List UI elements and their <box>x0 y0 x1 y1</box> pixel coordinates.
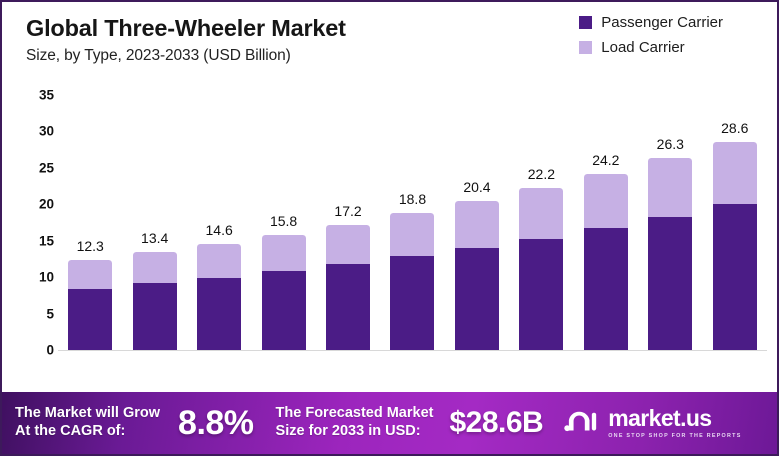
bar-group[interactable]: 14.6 <box>187 84 251 387</box>
bar-stack[interactable] <box>133 252 177 350</box>
bar-value-label: 28.6 <box>703 120 767 136</box>
y-axis-tick: 25 <box>8 160 54 175</box>
bar-segment-passenger-carrier[interactable] <box>326 264 370 350</box>
forecast-caption-line1: The Forecasted Market <box>276 405 434 423</box>
chart-card: Global Three-Wheeler Market Size, by Typ… <box>0 0 779 456</box>
bar-stack[interactable] <box>648 158 692 350</box>
bar-stack[interactable] <box>197 244 241 350</box>
logo-tagline: ONE STOP SHOP FOR THE REPORTS <box>608 433 741 439</box>
bar-segment-passenger-carrier[interactable] <box>390 256 434 350</box>
y-axis-tick: 10 <box>8 270 54 285</box>
bar-segment-load-carrier[interactable] <box>262 235 306 271</box>
bar-group[interactable]: 15.8 <box>251 84 315 387</box>
y-axis-tick: 5 <box>8 306 54 321</box>
bar-group[interactable]: 18.8 <box>380 84 444 387</box>
bar-segment-passenger-carrier[interactable] <box>262 271 306 350</box>
legend-label-passenger-carrier: Passenger Carrier <box>601 14 723 31</box>
bar-value-label: 14.6 <box>187 222 251 238</box>
logo-wordmark: market.us <box>608 407 741 430</box>
bar-segment-load-carrier[interactable] <box>390 213 434 256</box>
bar-value-label: 15.8 <box>251 213 315 229</box>
bar-stack[interactable] <box>326 225 370 350</box>
market-us-logo-text: market.us ONE STOP SHOP FOR THE REPORTS <box>608 407 741 439</box>
bar-segment-passenger-carrier[interactable] <box>197 278 241 350</box>
summary-banner: The Market will Grow At the CAGR of: 8.8… <box>2 392 779 454</box>
bar-value-label: 12.3 <box>58 238 122 254</box>
bar-series-container: 12.313.414.615.817.218.820.422.224.226.3… <box>58 84 767 387</box>
cagr-caption: The Market will Grow At the CAGR of: <box>15 405 160 440</box>
chart-header: Global Three-Wheeler Market Size, by Typ… <box>2 2 779 84</box>
bar-segment-load-carrier[interactable] <box>133 252 177 283</box>
bar-segment-load-carrier[interactable] <box>68 260 112 288</box>
legend-swatch-passenger-carrier <box>579 16 592 29</box>
bar-value-label: 18.8 <box>380 191 444 207</box>
y-axis-tick: 0 <box>8 343 54 358</box>
bar-group[interactable]: 13.4 <box>122 84 186 387</box>
legend-item-load-carrier[interactable]: Load Carrier <box>579 39 723 56</box>
y-axis-tick: 30 <box>8 124 54 139</box>
bar-stack[interactable] <box>713 142 757 350</box>
bar-stack[interactable] <box>584 174 628 350</box>
bar-stack[interactable] <box>390 213 434 350</box>
bar-value-label: 26.3 <box>638 136 702 152</box>
bar-segment-passenger-carrier[interactable] <box>133 283 177 350</box>
chart-subtitle: Size, by Type, 2023-2033 (USD Billion) <box>26 47 291 65</box>
cagr-value: 8.8% <box>178 404 254 443</box>
y-axis-tick: 20 <box>8 197 54 212</box>
y-axis: 05101520253035 <box>2 84 54 387</box>
y-axis-tick: 15 <box>8 233 54 248</box>
bar-group[interactable]: 28.6 <box>703 84 767 387</box>
bar-group[interactable]: 17.2 <box>316 84 380 387</box>
bar-segment-load-carrier[interactable] <box>519 188 563 238</box>
bar-segment-passenger-carrier[interactable] <box>713 204 757 350</box>
bar-segment-load-carrier[interactable] <box>584 174 628 228</box>
chart-title: Global Three-Wheeler Market <box>26 15 346 42</box>
market-us-logo-icon <box>563 408 601 438</box>
y-axis-tick: 35 <box>8 88 54 103</box>
bar-segment-load-carrier[interactable] <box>648 158 692 216</box>
bar-segment-load-carrier[interactable] <box>326 225 370 264</box>
bar-value-label: 13.4 <box>122 230 186 246</box>
bar-segment-passenger-carrier[interactable] <box>68 289 112 350</box>
bar-group[interactable]: 24.2 <box>574 84 638 387</box>
bar-group[interactable]: 20.4 <box>445 84 509 387</box>
chart-legend: Passenger Carrier Load Carrier <box>579 14 723 64</box>
bar-group[interactable]: 22.2 <box>509 84 573 387</box>
bar-value-label: 22.2 <box>509 166 573 182</box>
bar-segment-passenger-carrier[interactable] <box>455 248 499 350</box>
cagr-caption-line2: At the CAGR of: <box>15 423 160 441</box>
legend-swatch-load-carrier <box>579 41 592 54</box>
market-us-logo[interactable]: market.us ONE STOP SHOP FOR THE REPORTS <box>563 407 741 439</box>
bar-segment-load-carrier[interactable] <box>197 244 241 278</box>
forecast-value: $28.6B <box>449 406 543 440</box>
bar-segment-load-carrier[interactable] <box>713 142 757 205</box>
bar-stack[interactable] <box>68 260 112 350</box>
bar-group[interactable]: 26.3 <box>638 84 702 387</box>
cagr-caption-line1: The Market will Grow <box>15 405 160 423</box>
bar-segment-passenger-carrier[interactable] <box>648 217 692 350</box>
bar-stack[interactable] <box>262 235 306 350</box>
legend-label-load-carrier: Load Carrier <box>601 39 684 56</box>
forecast-caption: The Forecasted Market Size for 2033 in U… <box>276 405 434 440</box>
bar-value-label: 20.4 <box>445 179 509 195</box>
bar-segment-passenger-carrier[interactable] <box>519 239 563 350</box>
bar-value-label: 24.2 <box>574 152 638 168</box>
chart-plot-area: 05101520253035 12.313.414.615.817.218.82… <box>2 84 779 387</box>
bar-segment-passenger-carrier[interactable] <box>584 228 628 350</box>
forecast-caption-line2: Size for 2033 in USD: <box>276 423 434 441</box>
bar-group[interactable]: 12.3 <box>58 84 122 387</box>
bar-stack[interactable] <box>519 188 563 350</box>
bar-stack[interactable] <box>455 201 499 350</box>
bar-value-label: 17.2 <box>316 203 380 219</box>
legend-item-passenger-carrier[interactable]: Passenger Carrier <box>579 14 723 31</box>
bar-segment-load-carrier[interactable] <box>455 201 499 248</box>
